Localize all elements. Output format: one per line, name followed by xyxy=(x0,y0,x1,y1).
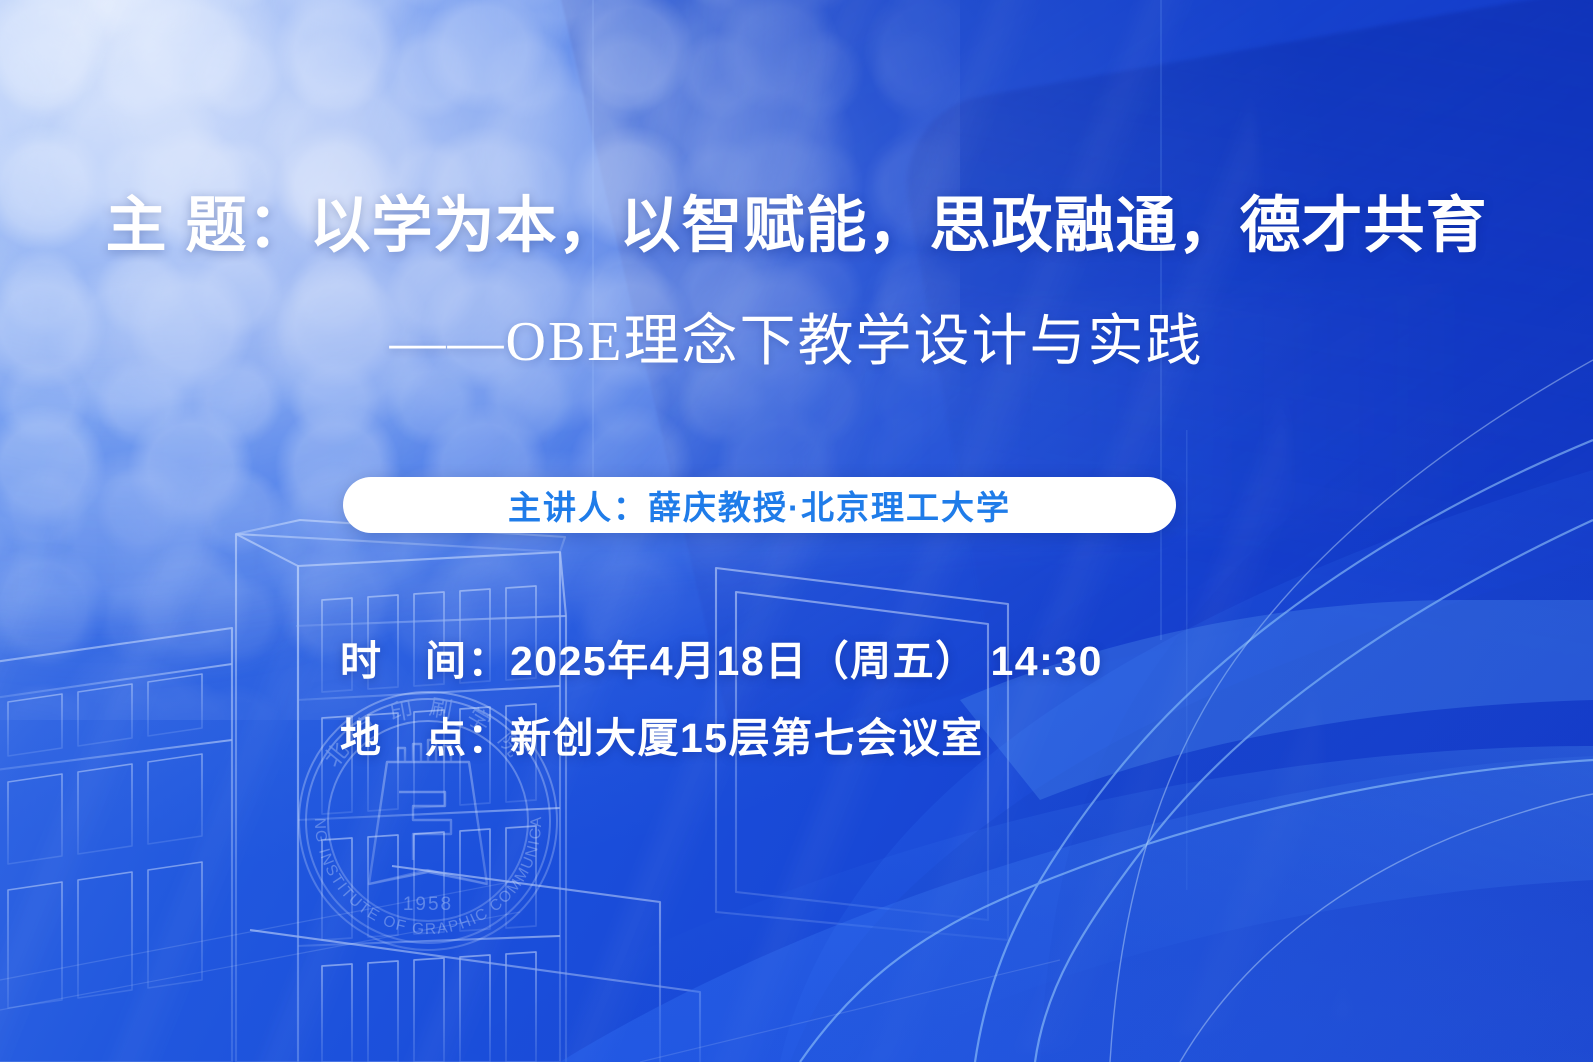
poster-subtitle: ——OBE理念下教学设计与实践 xyxy=(0,310,1593,374)
speaker-pill: 主讲人：薛庆教授·北京理工大学 xyxy=(343,477,1176,533)
event-time: 时 间：2025年4月18日（周五） 14:30 xyxy=(340,641,1103,682)
poster-title: 主 题：以学为本，以智赋能，思政融通，德才共育 xyxy=(0,191,1593,259)
event-details: 时 间：2025年4月18日（周五） 14:30 地 点：新创大厦15层第七会议… xyxy=(340,641,1103,759)
speaker-label: 主讲人：薛庆教授·北京理工大学 xyxy=(508,481,1011,529)
event-location: 地 点：新创大厦15层第七会议室 xyxy=(340,718,1103,759)
seminar-poster: 1958 BEIJING INSTITUTE OF GRAPHIC COMMUN… xyxy=(0,0,1593,1062)
